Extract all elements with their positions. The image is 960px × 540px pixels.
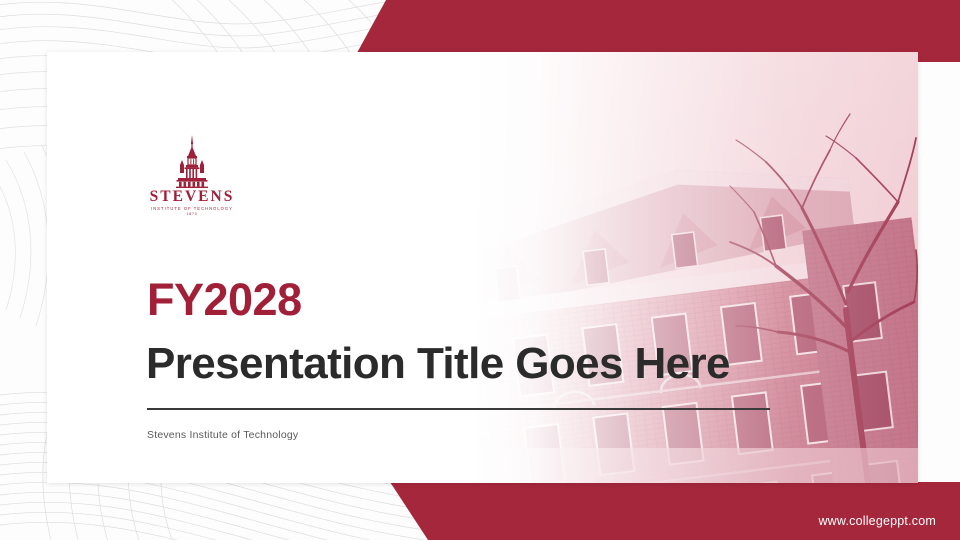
title-divider (147, 408, 770, 410)
subtitle: Stevens Institute of Technology (147, 429, 298, 441)
page-title: Presentation Title Goes Here (146, 340, 730, 388)
logo-tagline: INSTITUTE OF TECHNOLOGY (147, 207, 237, 211)
slide-content-card: STEVENS INSTITUTE OF TECHNOLOGY 1870 FY2… (47, 52, 918, 483)
bottom-red-diagonal-band (0, 482, 960, 540)
logo-wordmark: STEVENS (147, 189, 237, 205)
logo-founded-year: 1870 (147, 213, 237, 217)
fiscal-year-eyebrow: FY2028 (147, 277, 302, 322)
university-logo: STEVENS INSTITUTE OF TECHNOLOGY 1870 (147, 134, 237, 217)
stevens-castle-tower-icon (164, 134, 220, 188)
photo-white-fade-overlay (398, 52, 918, 483)
presentation-slide: STEVENS INSTITUTE OF TECHNOLOGY 1870 FY2… (0, 0, 960, 540)
footer-website-url[interactable]: www.collegeppt.com (818, 514, 936, 528)
campus-building-photo (398, 52, 918, 483)
